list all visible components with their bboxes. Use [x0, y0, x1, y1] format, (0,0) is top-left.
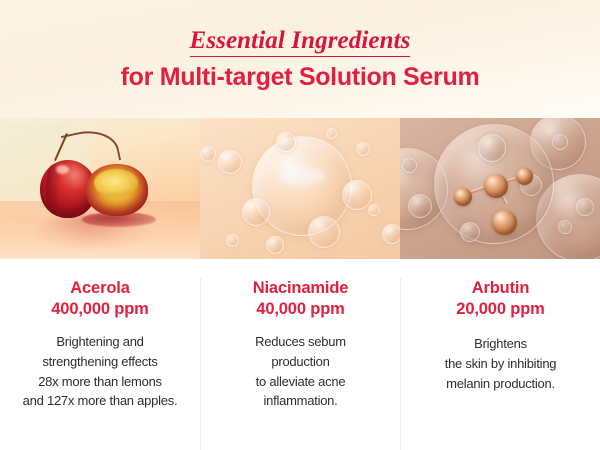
serum-bubble	[368, 204, 380, 216]
cherry-cleft	[46, 164, 60, 214]
molecule-atom	[484, 174, 508, 198]
description-line: melanin production.	[411, 374, 590, 394]
molecule-bubble	[408, 194, 432, 218]
acerola-cherries-photo	[0, 118, 200, 259]
header-banner: Essential Ingredients for Multi-target S…	[0, 0, 600, 118]
serum-bubble	[326, 128, 337, 139]
page-title-primary: Essential Ingredients	[190, 28, 411, 57]
serum-bubble	[342, 180, 372, 210]
molecule-bubble	[402, 158, 417, 173]
ingredient-concentration: 40,000 ppm	[211, 299, 390, 320]
serum-bubble	[276, 132, 296, 152]
ingredient-name: Acerola	[10, 278, 190, 299]
description-line: and 127x more than apples.	[10, 391, 190, 411]
molecule-bubble	[478, 134, 506, 162]
molecule-atom	[454, 188, 472, 206]
serum-bubble	[242, 198, 270, 226]
ingredient-description: Brightening and strengthening effects 28…	[10, 332, 190, 411]
description-line: inflammation.	[211, 391, 390, 411]
molecule-atom	[516, 168, 533, 185]
page-title-secondary: for Multi-target Solution Serum	[121, 64, 480, 90]
description-line: the skin by inhibiting	[411, 354, 590, 374]
cherry-pulp	[94, 169, 138, 197]
ingredient-photo-band	[0, 118, 600, 259]
serum-bubble	[218, 150, 242, 174]
molecule-bubble	[552, 134, 568, 150]
serum-bubble	[308, 216, 340, 248]
serum-bubble	[382, 224, 400, 244]
serum-droplet-large	[252, 136, 352, 236]
ingredient-name: Arbutin	[411, 278, 590, 299]
ingredient-name: Niacinamide	[211, 278, 390, 299]
description-line: Reduces sebum	[211, 332, 390, 352]
ingredient-concentration: 20,000 ppm	[411, 299, 590, 320]
description-line: to alleviate acne	[211, 372, 390, 392]
ingredients-infographic: Essential Ingredients for Multi-target S…	[0, 0, 600, 450]
niacinamide-serum-droplet-photo	[200, 118, 400, 259]
description-line: 28x more than lemons	[10, 372, 190, 392]
ingredient-column-niacinamide: Niacinamide 40,000 ppm Reduces sebum pro…	[200, 278, 400, 450]
description-line: Brightens	[411, 334, 590, 354]
serum-bubble	[226, 234, 239, 247]
ingredient-concentration: 400,000 ppm	[10, 299, 190, 320]
molecule-atom	[492, 210, 517, 235]
molecule-bubble	[460, 222, 480, 242]
description-line: strengthening effects	[10, 352, 190, 372]
ingredient-column-arbutin: Arbutin 20,000 ppm Brightens the skin by…	[400, 278, 600, 450]
halved-cherry	[86, 164, 148, 216]
molecule-bubble	[558, 220, 572, 234]
ingredient-columns: Acerola 400,000 ppm Brightening and stre…	[0, 259, 600, 450]
description-line: Brightening and	[10, 332, 190, 352]
molecule-bubble	[576, 198, 594, 216]
description-line: production	[211, 352, 390, 372]
ingredient-column-acerola: Acerola 400,000 ppm Brightening and stre…	[0, 278, 200, 450]
ingredient-description: Brightens the skin by inhibiting melanin…	[411, 334, 590, 393]
serum-bubble	[356, 142, 370, 156]
arbutin-molecule-bubbles-photo	[400, 118, 600, 259]
ingredient-description: Reduces sebum production to alleviate ac…	[211, 332, 390, 411]
serum-bubble	[200, 146, 216, 162]
serum-bubble	[266, 236, 284, 254]
